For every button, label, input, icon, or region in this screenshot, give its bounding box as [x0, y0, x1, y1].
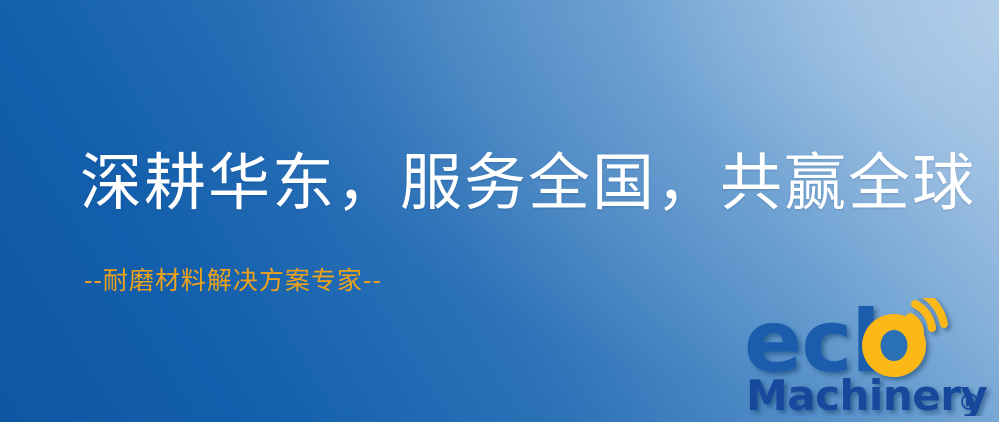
banner-headline: 深耕华东，服务全国，共赢全球 [80, 152, 976, 214]
banner-subtitle: --耐磨材料解决方案专家-- [84, 268, 382, 293]
svg-text:Machinery: Machinery [746, 371, 987, 416]
signal-wave-icon [910, 298, 944, 332]
echo-machinery-logo: ech Machinery ® [744, 298, 996, 416]
svg-text:®: ® [958, 390, 981, 416]
promo-banner: 深耕华东，服务全国，共赢全球 --耐磨材料解决方案专家-- ech [0, 0, 999, 422]
logo-tagline: Machinery ® [746, 371, 987, 416]
